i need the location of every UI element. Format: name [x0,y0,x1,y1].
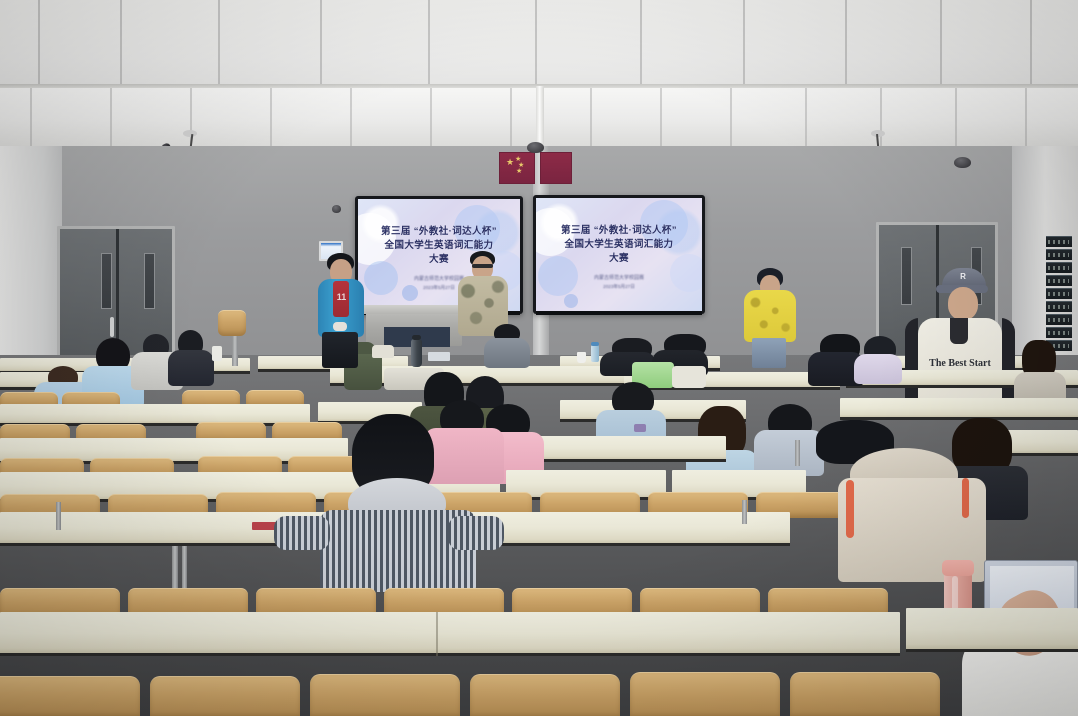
door-window [101,253,112,309]
plaque-item [1046,236,1072,247]
shirt-number: 11 [336,292,347,302]
plaque-item [1046,288,1072,299]
decor-circle [564,294,578,308]
desk-row-g-right [906,608,1078,652]
lecture-hall-photo: ★ ★ ★ ★ [0,0,1078,716]
small-water-bottle [591,345,599,362]
white-bag [672,366,706,388]
seat-back-nearest [0,676,140,716]
ceiling-seam [535,0,537,96]
door-window [144,253,155,309]
desk-leg [172,546,178,588]
soffit-seam [1025,88,1027,146]
ceiling-pillar [536,86,544,150]
desk-leg [182,546,187,588]
dark-top [168,350,214,386]
screen-title-line2: 全国大学生英语词汇能力 [536,236,702,250]
screen-subtitle-line2: 2023年5月27日 [536,284,702,290]
loose-chair [218,310,246,336]
ceiling-seam [428,0,430,96]
cap-logo-letter: R [958,272,968,282]
water-bottle-podium [411,339,422,367]
ceiling-panels [0,0,1078,96]
jeans [752,338,786,368]
soffit-seam [350,88,352,146]
ceiling-seam [218,0,220,96]
soffit-seam [430,88,432,146]
lectern-top [360,305,468,314]
right-arm [448,516,504,550]
ceiling-seam [320,0,322,96]
glasses-icon [472,264,493,268]
desk-leg [795,440,800,466]
ceiling-seam [120,0,122,96]
plaque-item [1046,262,1072,273]
soffit-seam [30,88,32,146]
desk-row-c [840,398,1078,420]
right-screen-face: 第三届 “外教社·词达人杯” 全国大学生英语词汇能力 大赛 内蒙古师范大学校园赛… [536,198,702,311]
plaque-item [1046,327,1072,338]
ceiling-seam [743,0,745,96]
head [948,287,978,320]
bottle-cap [942,560,974,576]
pink-hoodie [424,428,504,484]
seat-back-nearest [470,674,620,716]
wall-left-return [0,146,62,361]
drawstring [962,478,969,518]
screen-subtitle-line1: 内蒙古师范大学校园赛 [536,274,702,281]
plaque-item [1046,249,1072,260]
soffit-seam [510,88,512,146]
desk-row-g [0,612,900,656]
screen-title-line1: 第三届 “外教社·词达人杯” [536,222,702,236]
drawstring [846,480,854,538]
light-top [854,354,902,384]
polo-placket [950,318,968,344]
soffit-seam [805,88,807,146]
ceiling-seam [1030,0,1032,96]
dome-camera-icon [527,142,544,153]
desk-leg [56,502,61,530]
desk-leg [742,500,747,524]
national-flag-icon-right [540,152,572,184]
polo-text-line1: The Best Start [920,357,1000,370]
hands [333,322,347,331]
screen-bottom-bezel [536,311,702,315]
desk-seam [436,612,438,656]
plaque-item [1046,301,1072,312]
ceiling-seam [38,0,40,96]
paper-cup [577,352,586,363]
ceiling-seam [640,0,642,96]
seat-back-nearest [790,672,940,716]
left-arm [274,516,330,550]
national-flag-icon: ★ ★ ★ ★ [499,152,535,184]
door-handle[interactable] [110,317,114,337]
seat-back-nearest [150,676,300,716]
plaque-item [1046,314,1072,325]
soffit-seam [730,88,732,146]
right-display-screen[interactable]: 第三届 “外教社·词达人杯” 全国大学生英语词汇能力 大赛 内蒙古师范大学校园赛… [533,195,705,314]
wall-plaques [1046,236,1072,353]
soffit-seam [955,88,957,146]
desk-row-d [540,436,726,462]
dark-trousers [322,332,358,368]
small-item [428,352,450,361]
screen-title-line2: 全国大学生英语词汇能力 [358,237,520,251]
soffit-seam [880,88,882,146]
soffit-seam [590,88,592,146]
dome-camera-icon [954,157,971,168]
white-pouch [372,345,394,358]
small-sensor-icon [332,205,341,213]
smartphone[interactable] [634,424,646,432]
soffit-seam [110,88,112,146]
soffit-seam [660,88,662,146]
screen-title-line1: 第三届 “外教社·词达人杯” [358,223,520,237]
yellow-patterned-shirt [744,290,796,342]
screen-title-line3: 大赛 [358,251,520,265]
soffit-seam [270,88,272,146]
bottle-cap [591,342,599,346]
ceiling-seam [940,0,942,96]
bottle-cap [412,335,421,340]
seat-back-nearest [630,672,780,716]
door-window [901,247,912,305]
ceiling-seam [845,0,847,96]
water-cup [212,346,222,361]
screen-title-line3: 大赛 [536,250,702,264]
seat-back-nearest [310,674,460,716]
grey-top [484,338,530,368]
plaque-item [1046,275,1072,286]
